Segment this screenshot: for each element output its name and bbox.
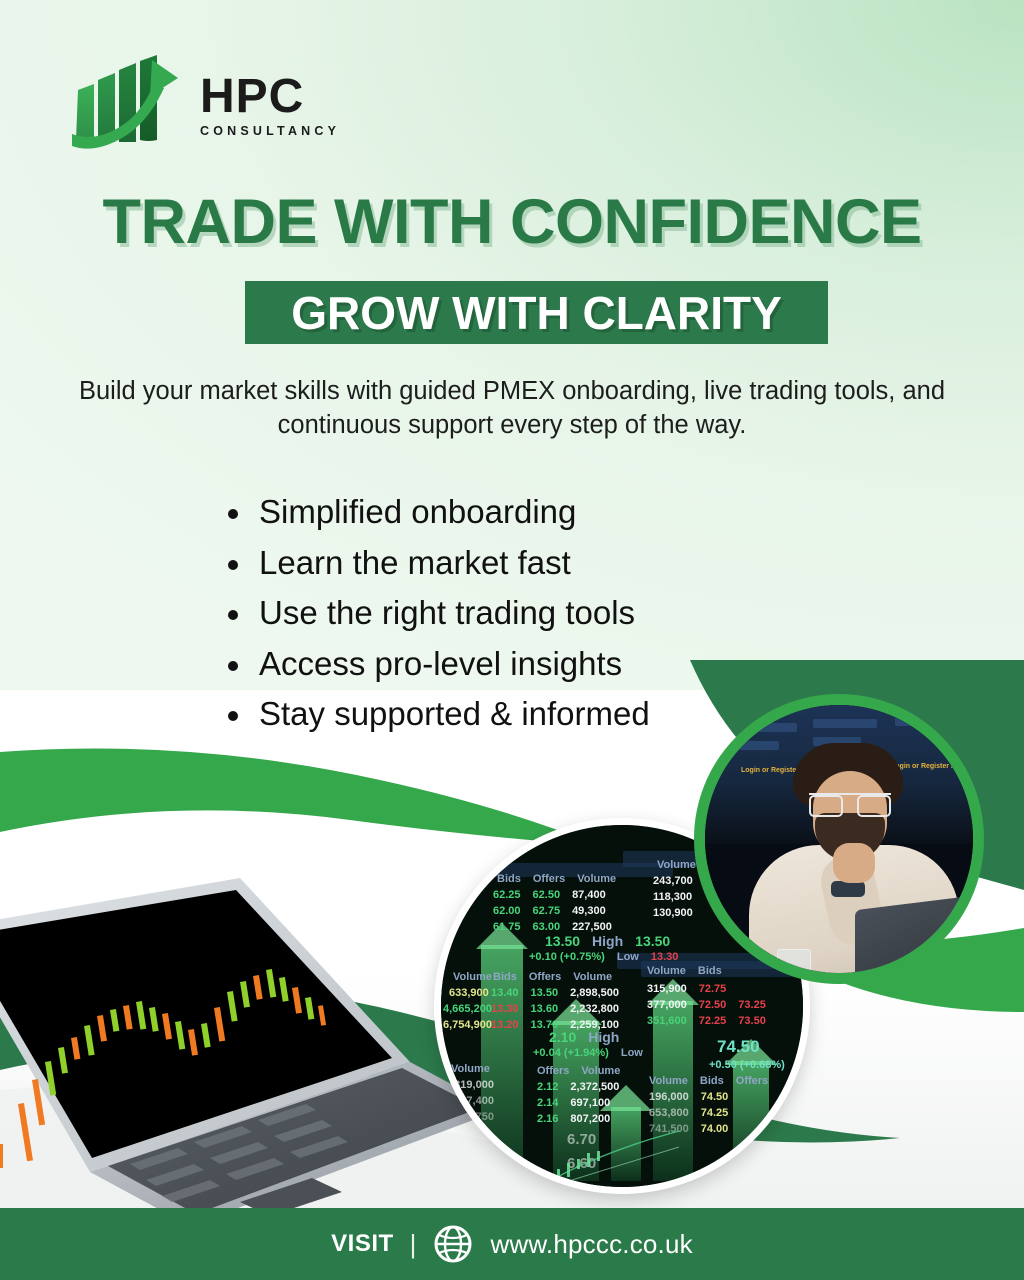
volume-value: 2,232,800: [570, 1003, 619, 1015]
last-price: 2.10: [549, 1029, 576, 1045]
col-volume: Volume: [581, 1065, 620, 1077]
quote-change: +0.50 (+0.68%): [709, 1059, 785, 1071]
bid-value: 72.75: [699, 983, 727, 995]
col-offers: Offers: [533, 873, 565, 885]
bid-value: 62.00: [493, 905, 521, 917]
offer-value: 62.75: [533, 905, 561, 917]
volume-value: 377,000: [647, 999, 687, 1011]
volume-value: 315,900: [647, 983, 687, 995]
brand-tagline: CONSULTANCY: [200, 124, 340, 138]
volume-value: 4,665,200: [443, 1003, 492, 1015]
globe-icon: [432, 1223, 474, 1265]
col-volume: Volume: [657, 859, 696, 871]
person-photo-circle: Login or Register Now Login or Register …: [694, 694, 984, 984]
volume-value: 130,900: [653, 907, 693, 919]
col-bids: Bids: [497, 873, 521, 885]
bid-value: 72.50: [707, 959, 732, 972]
volume-value: 227,500: [572, 921, 612, 933]
volume-value: 351,600: [647, 1015, 687, 1027]
volume-value: 1,707,400: [445, 1095, 494, 1107]
brand-wordmark: HPC CONSULTANCY: [200, 70, 340, 139]
bar-chart-arrow-icon: [68, 54, 186, 154]
footer-bar: VISIT | www.hpccc.co.uk: [0, 1208, 1024, 1280]
volume-value: 2,372,500: [570, 1081, 619, 1093]
brand-logo[interactable]: HPC CONSULTANCY: [68, 48, 368, 160]
brand-name: HPC: [200, 74, 340, 120]
list-item: Simplified onboarding: [226, 487, 926, 538]
volume-value: 633,900: [449, 987, 489, 999]
offer-value: 63.00: [533, 921, 561, 933]
high-label: High: [592, 933, 623, 949]
eyeglasses-icon: [809, 793, 891, 811]
col-bids: Bids: [700, 1075, 724, 1087]
poster: HPC CONSULTANCY TRADE WITH CONFIDENCE GR…: [0, 0, 1024, 1280]
offer-value: 13.50: [531, 987, 559, 999]
subheadline-band: GROW WITH CLARITY: [245, 281, 828, 344]
low-label: Low: [617, 951, 639, 963]
website-url[interactable]: www.hpccc.co.uk: [490, 1229, 692, 1260]
person-hand: [833, 843, 875, 883]
last-price: 13.50: [545, 933, 580, 949]
change-value: +0.10 (+0.75%): [529, 951, 605, 963]
bid-value: 74.50: [701, 1091, 729, 1103]
list-item: Use the right trading tools: [226, 588, 926, 639]
bid-value: 13.30: [491, 1003, 519, 1015]
man-working-on-laptop: Login or Register Now Login or Register …: [705, 705, 973, 973]
bid-value: 72.50: [699, 999, 727, 1011]
bid-value: 74.00: [701, 1123, 729, 1135]
volume-value: 196,000: [649, 1091, 689, 1103]
col-volume: Volume: [577, 873, 616, 885]
col-offers: Offers: [537, 1065, 569, 1077]
wristwatch: [831, 881, 865, 897]
col-bids: Bids: [493, 971, 517, 983]
change-value: +0.04 (+1.94%): [533, 1047, 609, 1059]
offer-value: 73.50: [738, 1015, 766, 1027]
visit-label: VISIT: [331, 1230, 394, 1258]
bid-value: 13.40: [491, 987, 519, 999]
headline: TRADE WITH CONFIDENCE: [0, 186, 1024, 258]
volume-value: 1,578,750: [445, 1111, 494, 1123]
subheadline: GROW WITH CLARITY: [291, 286, 782, 340]
laptop-candlestick-chart: [0, 866, 500, 1226]
offer-value: 13.60: [531, 1003, 559, 1015]
footer-divider: |: [410, 1229, 417, 1260]
quote-price: 74.50: [717, 1037, 760, 1057]
offer-value: 73.25: [738, 999, 766, 1011]
bid-value: 62.25: [493, 889, 521, 901]
volume-value: 87,400: [572, 889, 606, 901]
col-volume: Volume: [453, 971, 492, 983]
high-label: High: [588, 1029, 619, 1045]
col-volume: Volume: [647, 965, 686, 977]
bid-value: 72.75: [707, 946, 732, 959]
volume-value: 243,700: [653, 875, 693, 887]
bid-value: 13.20: [491, 1019, 519, 1031]
low-label: Low: [621, 1047, 643, 1059]
intro-paragraph: Build your market skills with guided PME…: [72, 374, 952, 443]
col-volume: Volume: [573, 971, 612, 983]
list-item: Learn the market fast: [226, 538, 926, 589]
bid-value: 74.25: [701, 1107, 729, 1119]
high-value: 13.50: [635, 933, 670, 949]
screen-label: Login or Register Now: [891, 763, 966, 770]
offer-value: 2.14: [537, 1097, 558, 1109]
volume-value: 2,898,500: [570, 987, 619, 999]
volume-value: 653,800: [649, 1107, 689, 1119]
volume-value: 697,100: [570, 1097, 610, 1109]
offer-value: 62.50: [533, 889, 561, 901]
volume-value: 118,300: [653, 891, 692, 903]
col-volume: Volume: [649, 1075, 688, 1087]
bids-header: Bids: [707, 933, 732, 946]
bid-value: 61.75: [493, 921, 521, 933]
col-volume: Volume: [451, 1063, 490, 1075]
volume-value: 49,300: [572, 905, 606, 917]
bid-value: 72.25: [699, 1015, 727, 1027]
col-offers: Offers: [529, 971, 561, 983]
col-offers: Offers: [736, 1075, 768, 1087]
volume-value: 6,754,900: [443, 1019, 492, 1031]
offer-value: 2.12: [537, 1081, 558, 1093]
volume-value: 1,319,000: [445, 1079, 494, 1091]
